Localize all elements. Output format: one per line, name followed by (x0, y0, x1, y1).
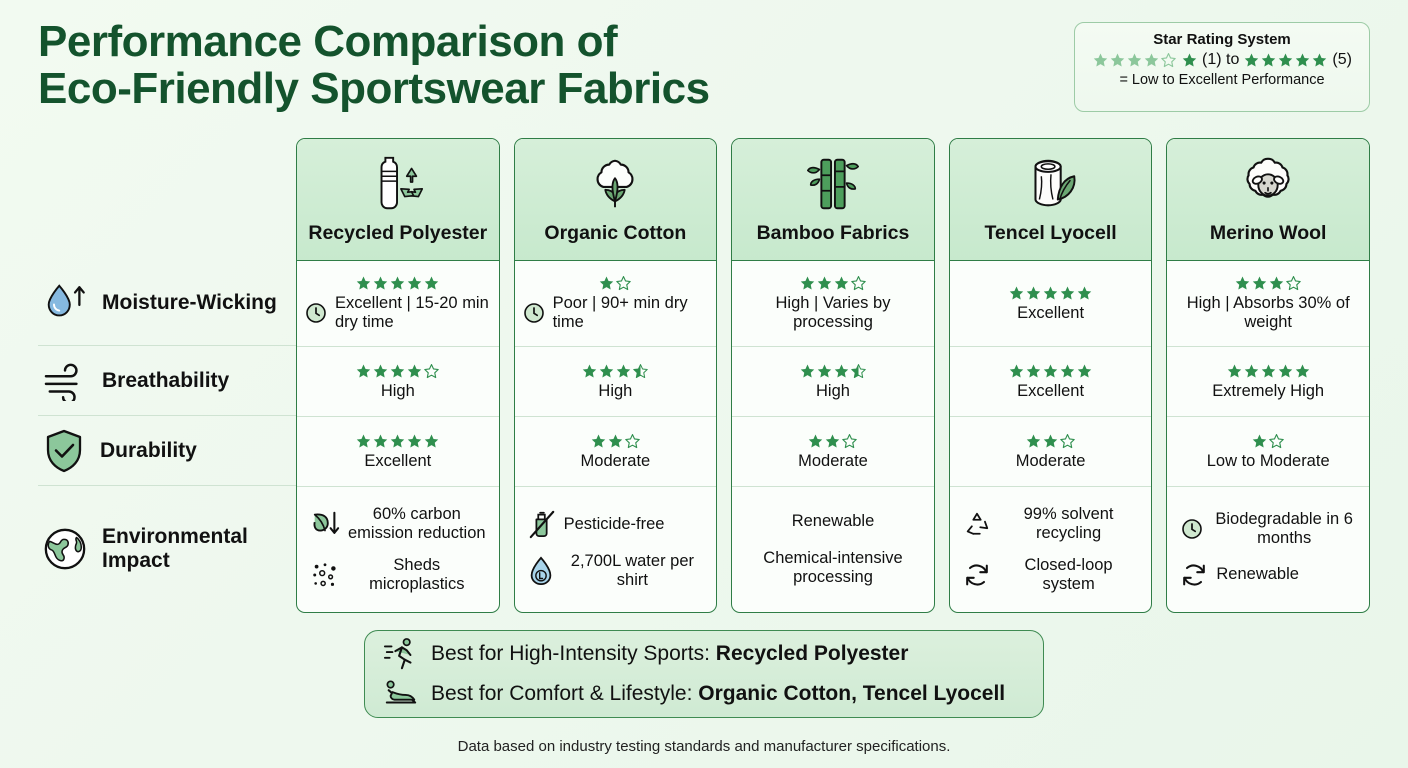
legend-title: Star Rating System (1085, 31, 1359, 48)
row-label-moisture-wicking: Moisture-Wicking (38, 260, 296, 346)
cell-environmental-impact: RenewableChemical-intensive processing (732, 487, 934, 612)
row-label-text: Breathability (102, 369, 229, 392)
cell-moisture-wicking: Excellent (950, 261, 1152, 347)
label-column-header (38, 138, 296, 260)
env-items: 60% carbon emission reductionSheds micro… (304, 505, 492, 593)
recommendation-line: Best for High-Intensity Sports: Recycled… (383, 636, 1025, 672)
recycle-icon (963, 510, 991, 538)
clock-icon (304, 301, 328, 325)
rating-stars (598, 275, 632, 292)
column-header: Recycled Polyester (297, 139, 499, 261)
cell-durability: Moderate (515, 417, 717, 487)
recommendation-value: Organic Cotton, Tencel Lyocell (698, 682, 1005, 705)
cell-breathability: High (297, 347, 499, 417)
rating-stars (1251, 433, 1285, 450)
globe-icon (42, 526, 88, 572)
column-title: Bamboo Fabrics (757, 222, 910, 245)
env-items: Biodegradable in 6 monthsRenewable (1174, 510, 1362, 589)
env-item: Closed-loop system (963, 556, 1139, 594)
lounging-person-icon (383, 676, 419, 712)
cell-text: High (816, 382, 850, 401)
water-drop-l-icon (528, 556, 554, 586)
loop-arrows-icon (1180, 561, 1208, 589)
cell-durability: Moderate (732, 417, 934, 487)
cell-text: Excellent (364, 452, 431, 471)
env-item: 60% carbon emission reduction (310, 505, 486, 543)
env-items: RenewableChemical-intensive processing (739, 512, 927, 586)
env-item-text: 99% solvent recycling (999, 505, 1139, 543)
legend-high-label: (5) (1332, 51, 1352, 69)
legend-low-single-star (1181, 52, 1198, 69)
column-title: Organic Cotton (544, 222, 686, 245)
cell-breathability: High (515, 347, 717, 417)
fabric-column-tencel-lyocell[interactable]: Tencel LyocellExcellentExcellentModerate… (949, 138, 1153, 613)
row-label-text: Durability (100, 439, 197, 462)
legend-example-row: (1) to (5) (1085, 51, 1359, 69)
column-title: Merino Wool (1210, 222, 1327, 245)
row-label-text: EnvironmentalImpact (102, 525, 248, 571)
rating-stars (355, 433, 440, 450)
env-item: 2,700L water per shirt (528, 552, 704, 590)
cell-text: Excellent (1017, 304, 1084, 323)
rating-stars (799, 275, 867, 292)
row-label-breathability: Breathability (38, 346, 296, 416)
cell-durability: Excellent (297, 417, 499, 487)
cell-text: Excellent (1017, 382, 1084, 401)
cell-breathability: Extremely High (1167, 347, 1369, 417)
bamboo-icon (800, 147, 866, 221)
column-title: Tencel Lyocell (984, 222, 1116, 245)
rating-stars (581, 363, 649, 380)
cell-detail: Poor | 90+ min dry time (522, 294, 710, 332)
cell-environmental-impact: Pesticide-free2,700L water per shirt (515, 487, 717, 612)
cell-moisture-wicking: High | Absorbs 30% of weight (1167, 261, 1369, 347)
cell-moisture-wicking: Poor | 90+ min dry time (515, 261, 717, 347)
recommendation-value: Recycled Polyester (716, 642, 909, 665)
recommendation-text: Best for Comfort & Lifestyle: Organic Co… (431, 682, 1005, 706)
wind-icon (42, 361, 88, 401)
cell-environmental-impact: Biodegradable in 6 monthsRenewable (1167, 487, 1369, 612)
shield-check-icon (42, 428, 86, 474)
star-rating-legend: Star Rating System (1) to (5) = Low to E… (1074, 22, 1370, 112)
rating-stars (1234, 275, 1302, 292)
cell-text: Excellent | 15-20 min dry time (335, 294, 492, 332)
env-item: Renewable (792, 512, 875, 531)
recommendation-panel: Best for High-Intensity Sports: Recycled… (364, 630, 1044, 718)
rating-stars (1025, 433, 1076, 450)
row-label-text: Moisture-Wicking (102, 291, 277, 314)
column-header: Merino Wool (1167, 139, 1369, 261)
sheep-icon (1236, 147, 1300, 221)
env-item: Sheds microplastics (310, 556, 486, 594)
cell-text: High (598, 382, 632, 401)
comparison-table: Moisture-WickingBreathabilityDurabilityE… (38, 138, 1370, 613)
cell-moisture-wicking: High | Varies by processing (732, 261, 934, 347)
column-header: Bamboo Fabrics (732, 139, 934, 261)
fabric-column-merino-wool[interactable]: Merino WoolHigh | Absorbs 30% of weightE… (1166, 138, 1370, 613)
cell-text: Poor | 90+ min dry time (553, 294, 710, 332)
infographic-page: Performance Comparison of Eco-Friendly S… (0, 0, 1408, 768)
cell-text: High (381, 382, 415, 401)
cotton-boll-icon (582, 147, 648, 221)
rating-stars (355, 363, 440, 380)
row-label-environmental-impact: EnvironmentalImpact (38, 486, 296, 611)
title-line-2: Eco-Friendly Sportswear Fabrics (38, 65, 938, 112)
column-header: Organic Cotton (515, 139, 717, 261)
cell-text: High | Varies by processing (739, 294, 927, 332)
legend-subtitle: = Low to Excellent Performance (1085, 72, 1359, 88)
leaf-down-arrow-icon (310, 509, 340, 539)
footnote: Data based on industry testing standards… (0, 738, 1408, 755)
clock-icon (522, 301, 546, 325)
env-item-text: Pesticide-free (564, 515, 665, 534)
cell-text: Moderate (798, 452, 868, 471)
rating-stars (1226, 363, 1311, 380)
loop-arrows-icon (963, 561, 991, 589)
column-header: Tencel Lyocell (950, 139, 1152, 261)
cell-text: High | Absorbs 30% of weight (1174, 294, 1362, 332)
cell-moisture-wicking: Excellent | 15-20 min dry time (297, 261, 499, 347)
cell-breathability: Excellent (950, 347, 1152, 417)
fabric-columns: Recycled PolyesterExcellent | 15-20 min … (296, 138, 1370, 613)
cell-durability: Low to Moderate (1167, 417, 1369, 487)
cell-environmental-impact: 60% carbon emission reductionSheds micro… (297, 487, 499, 612)
env-item-text: Renewable (792, 512, 875, 531)
recommendation-line: Best for Comfort & Lifestyle: Organic Co… (383, 676, 1025, 712)
rating-stars (1008, 363, 1093, 380)
cell-text: Moderate (1016, 452, 1086, 471)
env-item-text: Chemical-intensive processing (745, 549, 921, 587)
rating-stars (355, 275, 440, 292)
env-item-text: Closed-loop system (999, 556, 1139, 594)
rating-stars (590, 433, 641, 450)
env-items: Pesticide-free2,700L water per shirt (522, 509, 710, 590)
cell-text: Extremely High (1212, 382, 1324, 401)
wood-log-leaf-icon (1018, 147, 1084, 221)
cell-text: Moderate (581, 452, 651, 471)
rating-stars (1008, 285, 1093, 302)
cell-environmental-impact: 99% solvent recyclingClosed-loop system (950, 487, 1152, 612)
recycled-bottle-icon (364, 147, 432, 221)
title-line-1: Performance Comparison of (38, 17, 617, 66)
no-pesticide-icon (528, 509, 556, 539)
fabric-column-bamboo-fabrics[interactable]: Bamboo FabricsHigh | Varies by processin… (731, 138, 935, 613)
env-item-text: Sheds microplastics (348, 556, 486, 594)
legend-low-label: (1) to (1202, 51, 1239, 69)
fabric-column-recycled-polyester[interactable]: Recycled PolyesterExcellent | 15-20 min … (296, 138, 500, 613)
env-item-text: Renewable (1216, 565, 1299, 584)
env-item-text: Biodegradable in 6 months (1212, 510, 1356, 548)
legend-low-stars (1092, 52, 1177, 69)
cell-text: Low to Moderate (1207, 452, 1330, 471)
rating-stars (799, 363, 867, 380)
env-item: Renewable (1180, 561, 1356, 589)
cell-breathability: High (732, 347, 934, 417)
recommendation-text: Best for High-Intensity Sports: Recycled… (431, 642, 908, 666)
column-title: Recycled Polyester (308, 222, 487, 245)
fabric-column-organic-cotton[interactable]: Organic CottonPoor | 90+ min dry timeHig… (514, 138, 718, 613)
running-person-icon (383, 636, 419, 672)
env-item: Chemical-intensive processing (745, 549, 921, 587)
rating-stars (807, 433, 858, 450)
env-items: 99% solvent recyclingClosed-loop system (957, 505, 1145, 593)
env-item: 99% solvent recycling (963, 505, 1139, 543)
cell-durability: Moderate (950, 417, 1152, 487)
row-label-durability: Durability (38, 416, 296, 486)
row-label-column: Moisture-WickingBreathabilityDurabilityE… (38, 138, 296, 613)
water-drop-up-arrow-icon (42, 280, 88, 326)
cell-detail: Excellent | 15-20 min dry time (304, 294, 492, 332)
page-title: Performance Comparison of Eco-Friendly S… (38, 18, 938, 112)
microplastics-icon (310, 561, 340, 589)
clock-icon (1180, 517, 1204, 541)
env-item: Pesticide-free (528, 509, 704, 539)
legend-high-stars (1243, 52, 1328, 69)
env-item-text: 2,700L water per shirt (562, 552, 704, 590)
env-item-text: 60% carbon emission reduction (348, 505, 486, 543)
env-item: Biodegradable in 6 months (1180, 510, 1356, 548)
